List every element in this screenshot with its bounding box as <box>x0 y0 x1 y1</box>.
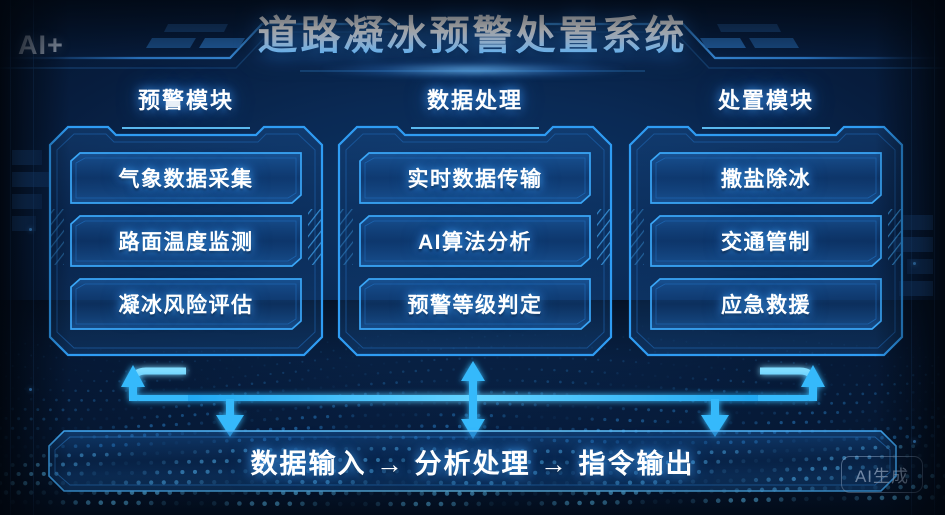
title-container: 道路凝冰预警处置系统 <box>0 3 945 61</box>
module-item-label: 撒盐除冰 <box>650 152 882 204</box>
module-item[interactable]: 应急救援 <box>650 278 882 330</box>
module-item[interactable]: 交通管制 <box>650 215 882 267</box>
module-item-label: 实时数据传输 <box>359 152 591 204</box>
module-item-list: 气象数据采集路面温度监测凝冰风险评估 <box>48 125 324 357</box>
module-item-label: 气象数据采集 <box>70 152 302 204</box>
module-item-label: 交通管制 <box>650 215 882 267</box>
slide-canvas: AI+ 道路凝冰预警处置系统 预警模块气象数据采集路面温度监测凝冰风险评估数据处… <box>0 0 945 515</box>
module-item-list: 撒盐除冰交通管制应急救援 <box>628 125 904 357</box>
module-item[interactable]: 气象数据采集 <box>70 152 302 204</box>
flow-summary-banner: 数据输入 → 分析处理 → 指令输出 <box>48 430 897 492</box>
module-item[interactable]: 凝冰风险评估 <box>70 278 302 330</box>
module-item-label: 预警等级判定 <box>359 278 591 330</box>
module-item-label: AI算法分析 <box>359 215 591 267</box>
module-columns: 预警模块气象数据采集路面温度监测凝冰风险评估数据处理实时数据传输AI算法分析预警… <box>0 86 945 361</box>
module-panel: 实时数据传输AI算法分析预警等级判定 <box>337 125 613 357</box>
module-column-title: 数据处理 <box>337 86 613 119</box>
header-bar: AI+ 道路凝冰预警处置系统 <box>0 0 945 78</box>
module-item-label: 应急救援 <box>650 278 882 330</box>
module-column-title: 处置模块 <box>628 86 904 119</box>
module-item[interactable]: 实时数据传输 <box>359 152 591 204</box>
module-item[interactable]: 路面温度监测 <box>70 215 302 267</box>
module-panel: 撒盐除冰交通管制应急救援 <box>628 125 904 357</box>
module-item-label: 路面温度监测 <box>70 215 302 267</box>
module-column-1: 预警模块气象数据采集路面温度监测凝冰风险评估 <box>48 86 324 357</box>
page-title: 道路凝冰预警处置系统 <box>258 3 688 61</box>
module-column-2: 数据处理实时数据传输AI算法分析预警等级判定 <box>337 86 613 357</box>
module-item-list: 实时数据传输AI算法分析预警等级判定 <box>337 125 613 357</box>
title-glow-accent <box>323 62 623 78</box>
module-column-title: 预警模块 <box>48 86 324 119</box>
module-item[interactable]: 预警等级判定 <box>359 278 591 330</box>
module-item-label: 凝冰风险评估 <box>70 278 302 330</box>
module-panel: 气象数据采集路面温度监测凝冰风险评估 <box>48 125 324 357</box>
module-item[interactable]: AI算法分析 <box>359 215 591 267</box>
module-column-3: 处置模块撒盐除冰交通管制应急救援 <box>628 86 904 357</box>
module-item[interactable]: 撒盐除冰 <box>650 152 882 204</box>
flow-summary-text: 数据输入 → 分析处理 → 指令输出 <box>48 430 897 492</box>
ai-generated-watermark: AI生成 <box>841 456 923 493</box>
